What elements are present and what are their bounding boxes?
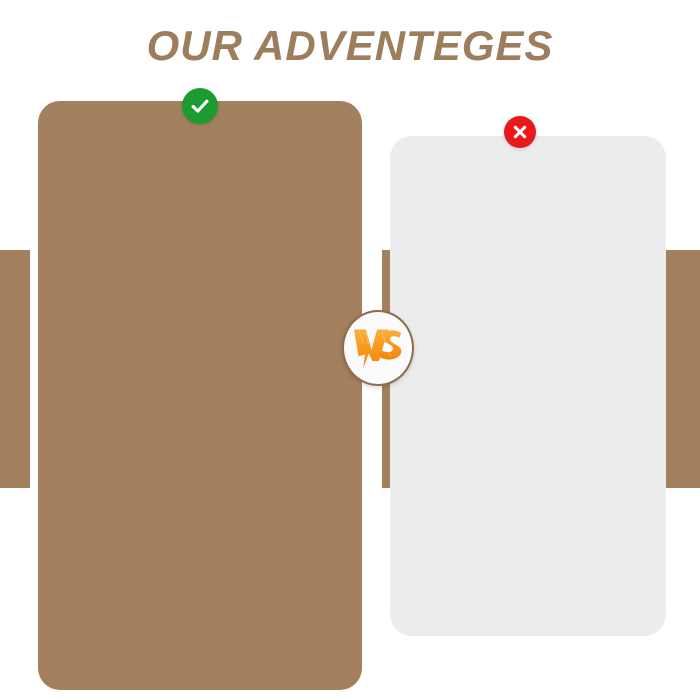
vs-lightning-icon: [342, 310, 414, 386]
drawbacks-panel: [390, 136, 666, 636]
page-title: OUR ADVENTEGES: [0, 22, 700, 70]
check-circle-icon: [182, 88, 218, 124]
band-notch-left: [30, 250, 38, 488]
advantages-panel: [38, 101, 362, 690]
cross-circle-icon: [504, 116, 536, 148]
